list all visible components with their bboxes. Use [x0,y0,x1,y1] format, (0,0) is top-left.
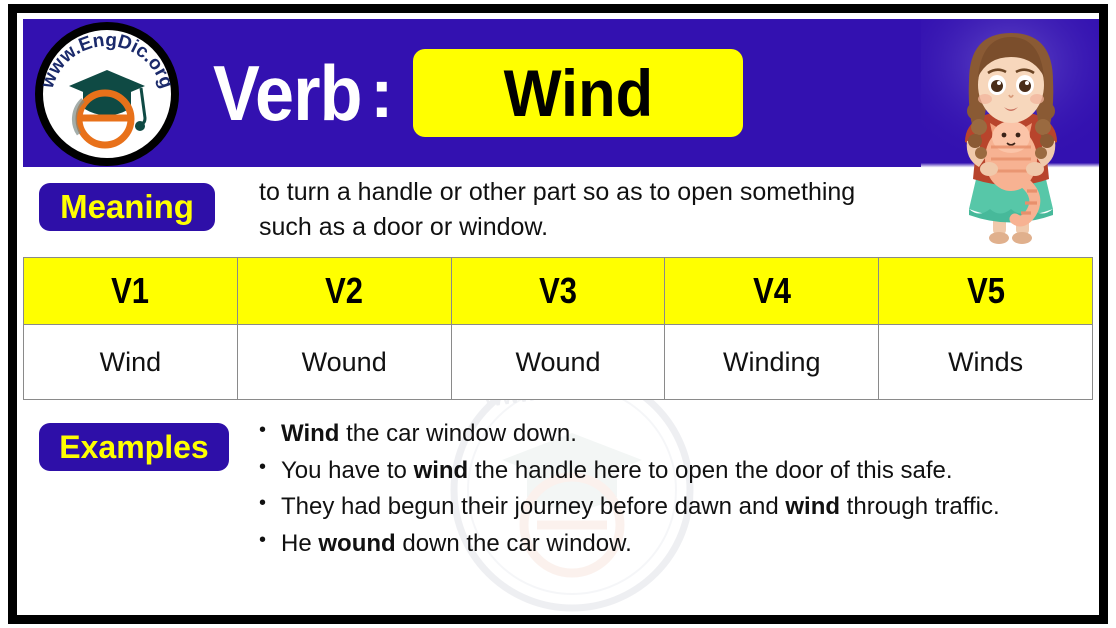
poster-header: www.EngDic.org Verb : Wind [23,19,1093,167]
meaning-text: to turn a handle or other part so as to … [259,175,903,244]
examples-row: Examples Wind the car window down.You ha… [23,405,1093,609]
verb-forms-table: V1 V2 V3 V4 V5 Wind Wound Wound Winding … [23,257,1093,400]
examples-list: Wind the car window down.You have to win… [255,417,1065,563]
column-header-v3: V3 [451,258,665,325]
example-keyword: wind [414,457,469,484]
example-item: He wound down the car window. [281,527,1065,561]
cell-v4: Winding [665,325,879,400]
column-header-v5: V5 [879,258,1093,325]
example-item: Wind the car window down. [281,417,1065,451]
table-row: Wind Wound Wound Winding Winds [24,325,1093,400]
cell-v2: Wound [237,325,451,400]
examples-label-badge: Examples [39,423,229,471]
header-title-group: Verb : Wind [213,19,908,167]
example-keyword: Wind [281,420,339,447]
poster-inner: www.EngDic.org www.EngDic.org [17,13,1099,615]
examples-label: Examples [59,429,208,466]
column-header-v2: V2 [237,258,451,325]
page-title: Verb [213,54,362,132]
example-keyword: wind [785,493,840,520]
cell-v1: Wind [24,325,238,400]
meaning-label-badge: Meaning [39,183,215,231]
example-item: You have to wind the handle here to open… [281,454,1065,488]
engdic-logo-icon: www.EngDic.org [35,22,179,166]
example-keyword: wound [318,530,395,557]
title-separator: : [370,58,393,128]
example-item: They had begun their journey before dawn… [281,490,1065,524]
cell-v5: Winds [879,325,1093,400]
verb-poster-card: www.EngDic.org www.EngDic.org [8,4,1108,624]
meaning-label: Meaning [60,188,194,226]
column-header-v1: V1 [24,258,238,325]
word-badge: Wind [413,49,743,137]
table-header-row: V1 V2 V3 V4 V5 [24,258,1093,325]
meaning-row: Meaning to turn a handle or other part s… [23,169,1093,253]
column-header-v4: V4 [665,258,879,325]
cell-v3: Wound [451,325,665,400]
word-value: Wind [504,60,653,126]
